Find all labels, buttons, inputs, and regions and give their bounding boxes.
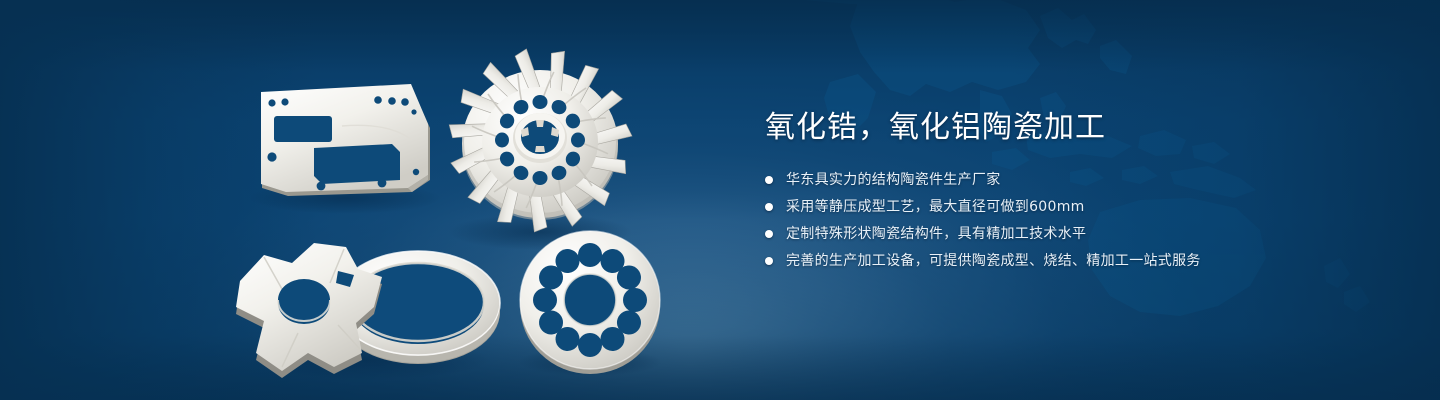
list-item: 定制特殊形状陶瓷结构件，具有精加工技术水平	[765, 224, 1385, 244]
list-item-label: 华东具实力的结构陶瓷件生产厂家	[786, 170, 1001, 190]
ceramic-impeller	[447, 48, 632, 234]
ceramic-parts-photo	[0, 0, 720, 400]
list-item-label: 定制特殊形状陶瓷结构件，具有精加工技术水平	[786, 224, 1086, 244]
list-item: 采用等静压成型工艺，最大直径可做到600mm	[765, 197, 1385, 217]
bullet-dot-icon	[765, 230, 773, 238]
ceramic-cross-part	[236, 243, 382, 378]
list-item-label: 完善的生产加工设备，可提供陶瓷成型、烧结、精加工一站式服务	[786, 251, 1201, 271]
banner-text-column: 氧化锆，氧化铝陶瓷加工 华东具实力的结构陶瓷件生产厂家 采用等静压成型工艺，最大…	[765, 108, 1385, 278]
list-item: 华东具实力的结构陶瓷件生产厂家	[765, 170, 1385, 190]
ceramic-machined-plate	[261, 84, 430, 196]
list-item-label: 采用等静压成型工艺，最大直径可做到600mm	[786, 197, 1085, 217]
ceramic-perforated-disc	[520, 231, 660, 374]
product-banner: 氧化锆，氧化铝陶瓷加工 华东具实力的结构陶瓷件生产厂家 采用等静压成型工艺，最大…	[0, 0, 1440, 400]
bullet-dot-icon	[765, 176, 773, 184]
bullet-dot-icon	[765, 257, 773, 265]
page-title: 氧化锆，氧化铝陶瓷加工	[765, 108, 1385, 148]
bullet-dot-icon	[765, 203, 773, 211]
list-item: 完善的生产加工设备，可提供陶瓷成型、烧结、精加工一站式服务	[765, 251, 1385, 271]
feature-list: 华东具实力的结构陶瓷件生产厂家 采用等静压成型工艺，最大直径可做到600mm 定…	[765, 170, 1385, 271]
